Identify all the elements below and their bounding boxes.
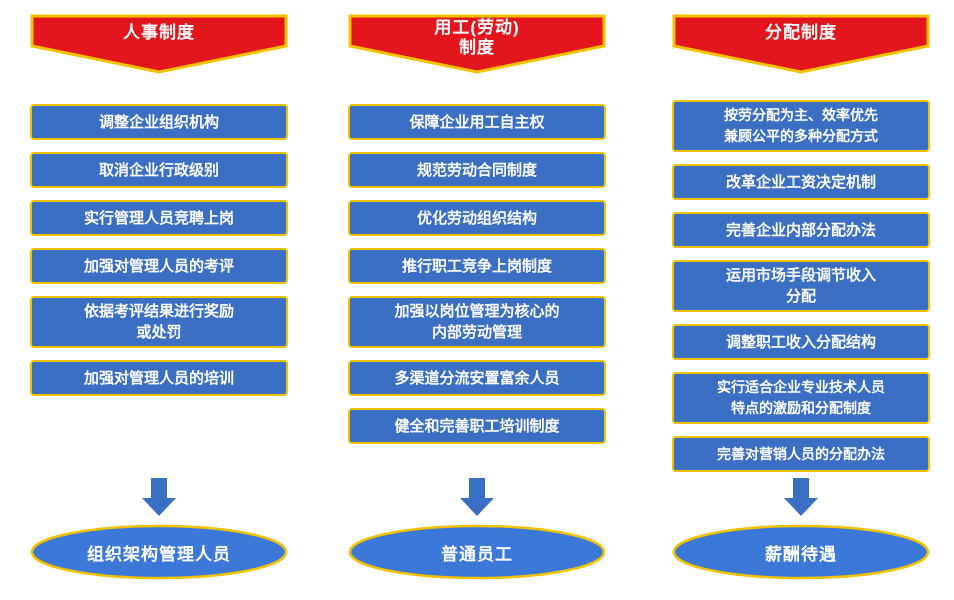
down-arrow-icon <box>460 478 494 516</box>
process-box[interactable]: 完善企业内部分配办法 <box>672 212 930 248</box>
box-list-labor: 保障企业用工自主权 规范劳动合同制度 优化劳动组织结构 推行职工竞争上岗制度 加… <box>348 104 606 454</box>
down-arrow-shape <box>784 478 818 516</box>
diagram-column-labor: 用工(劳动) 制度 保障企业用工自主权 规范劳动合同制度 优化劳动组织结构 推行… <box>326 0 626 600</box>
column-banner-labor: 用工(劳动) 制度 <box>348 14 606 74</box>
process-box[interactable]: 加强以岗位管理为核心的 内部劳动管理 <box>348 296 606 348</box>
process-diagram: 人事制度 调整企业组织机构 取消企业行政级别 实行管理人员竞聘上岗 加强对管理人… <box>0 0 954 600</box>
down-arrow-shape <box>460 478 494 516</box>
process-box[interactable]: 运用市场手段调节收入 分配 <box>672 260 930 312</box>
process-box[interactable]: 依据考评结果进行奖励 或处罚 <box>30 296 288 348</box>
process-box[interactable]: 取消企业行政级别 <box>30 152 288 188</box>
diagram-column-distribution: 分配制度 按劳分配为主、效率优先 兼顾公平的多种分配方式 改革企业工资决定机制 … <box>650 0 950 600</box>
result-ellipse-labor[interactable]: 普通员工 <box>348 524 606 580</box>
banner-label: 用工(劳动) 制度 <box>348 18 606 58</box>
process-box[interactable]: 调整职工收入分配结构 <box>672 324 930 360</box>
result-ellipse-personnel[interactable]: 组织架构管理人员 <box>30 524 288 580</box>
process-box[interactable]: 改革企业工资决定机制 <box>672 164 930 200</box>
column-banner-distribution: 分配制度 <box>672 14 930 74</box>
box-list-distribution: 按劳分配为主、效率优先 兼顾公平的多种分配方式 改革企业工资决定机制 完善企业内… <box>672 100 930 480</box>
process-box[interactable]: 按劳分配为主、效率优先 兼顾公平的多种分配方式 <box>672 100 930 152</box>
process-box[interactable]: 加强对管理人员的考评 <box>30 248 288 284</box>
result-label: 普通员工 <box>348 524 606 580</box>
process-box[interactable]: 优化劳动组织结构 <box>348 200 606 236</box>
process-box[interactable]: 实行适合企业专业技术人员 特点的激励和分配制度 <box>672 372 930 424</box>
diagram-column-personnel: 人事制度 调整企业组织机构 取消企业行政级别 实行管理人员竞聘上岗 加强对管理人… <box>8 0 308 600</box>
banner-label: 分配制度 <box>672 23 930 43</box>
process-box[interactable]: 多渠道分流安置富余人员 <box>348 360 606 396</box>
result-ellipse-distribution[interactable]: 薪酬待遇 <box>672 524 930 580</box>
banner-label: 人事制度 <box>30 23 288 43</box>
down-arrow-icon <box>142 478 176 516</box>
down-arrow-icon <box>784 478 818 516</box>
process-box[interactable]: 健全和完善职工培训制度 <box>348 408 606 444</box>
process-box[interactable]: 推行职工竞争上岗制度 <box>348 248 606 284</box>
process-box[interactable]: 保障企业用工自主权 <box>348 104 606 140</box>
process-box[interactable]: 实行管理人员竞聘上岗 <box>30 200 288 236</box>
down-arrow-shape <box>142 478 176 516</box>
process-box[interactable]: 调整企业组织机构 <box>30 104 288 140</box>
process-box[interactable]: 规范劳动合同制度 <box>348 152 606 188</box>
process-box[interactable]: 完善对营销人员的分配办法 <box>672 436 930 472</box>
column-banner-personnel: 人事制度 <box>30 14 288 74</box>
box-list-personnel: 调整企业组织机构 取消企业行政级别 实行管理人员竞聘上岗 加强对管理人员的考评 … <box>30 104 288 404</box>
process-box[interactable]: 加强对管理人员的培训 <box>30 360 288 396</box>
result-label: 组织架构管理人员 <box>30 524 288 580</box>
result-label: 薪酬待遇 <box>672 524 930 580</box>
